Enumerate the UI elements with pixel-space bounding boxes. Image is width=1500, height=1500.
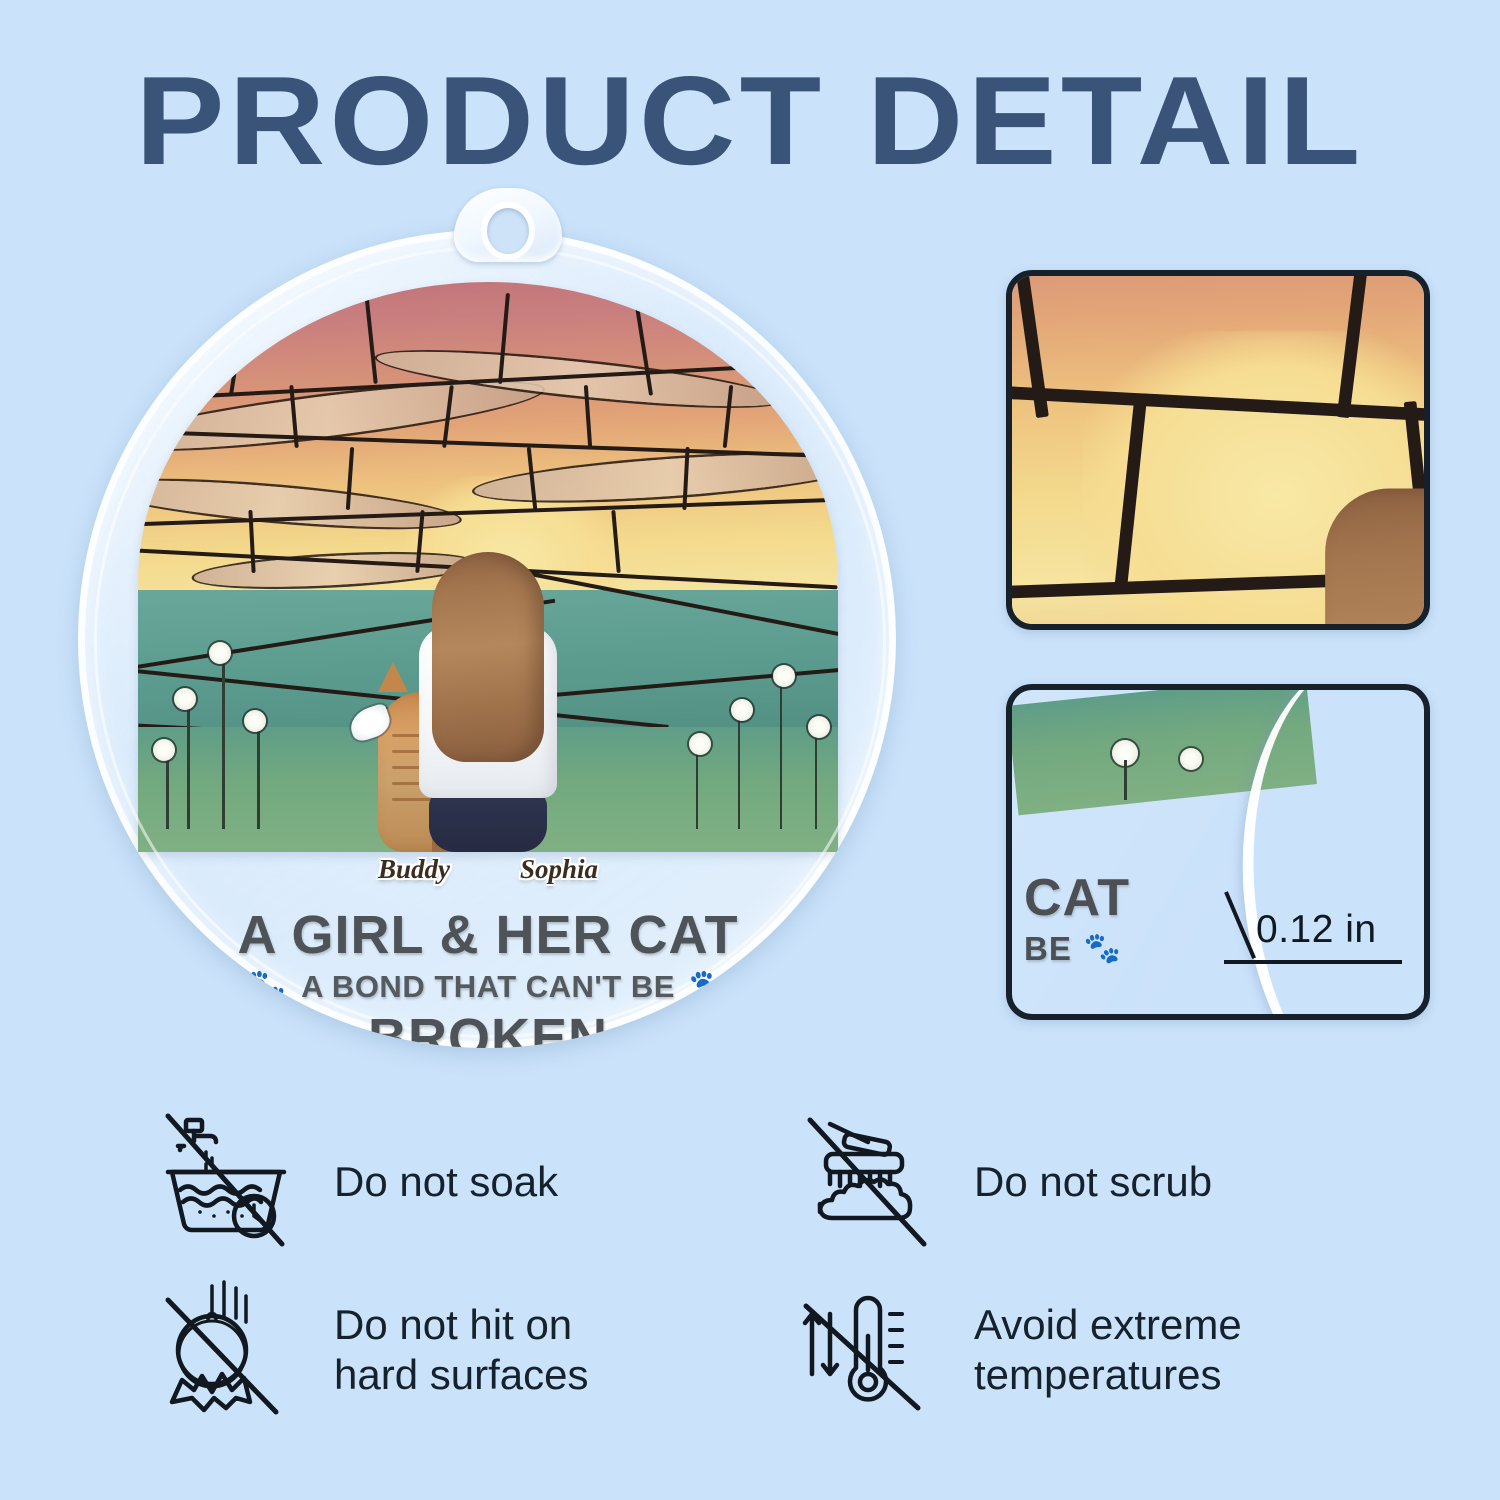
flower-stem [187, 704, 190, 829]
mini-text-cat: CAT [1024, 872, 1130, 924]
cat-ear-icon [378, 662, 408, 692]
product-detail-page: PRODUCT DETAIL [0, 0, 1500, 1500]
paw-print-icon: 🐾 [244, 970, 287, 1004]
no-soak-icon [150, 1112, 300, 1252]
flower-stem [166, 755, 169, 829]
care-label-no-scrub: Do not scrub [974, 1157, 1212, 1207]
callout-edge-thickness: CAT BE 🐾 0.12 in [1006, 684, 1430, 1020]
product-quote: A GIRL & HER CAT 🐾 A BOND THAT CAN'T BE … [138, 908, 838, 1048]
pet-names-row: Buddy Sophia [138, 854, 838, 885]
quote-line-1: A GIRL & HER CAT [138, 908, 838, 963]
quote-line-2-row: 🐾 A BOND THAT CAN'T BE 🐾 [138, 969, 838, 1005]
girl-hair [432, 552, 544, 762]
paw-print-icon: 🐾 [689, 970, 732, 1004]
care-item-no-scrub: Do not scrub [790, 1098, 1420, 1266]
girl-figure [413, 552, 563, 852]
flower-stem [738, 715, 741, 829]
page-title: PRODUCT DETAIL [0, 58, 1500, 184]
care-item-no-impact: Do not hit on hard surfaces [150, 1266, 790, 1434]
flower-stem [222, 658, 225, 829]
no-scrub-icon [790, 1112, 940, 1252]
daisy-flower-icon [1180, 748, 1202, 770]
closeup-girl-hair [1325, 488, 1430, 630]
flower-stem [1124, 760, 1127, 800]
daisy-flower-icon [808, 716, 830, 738]
quote-line-2: A BOND THAT CAN'T BE [301, 969, 675, 1005]
daisy-flower-icon [689, 733, 711, 755]
closeup-artwork [1006, 270, 1430, 630]
daisy-flower-icon [731, 699, 753, 721]
care-item-no-extreme-temp: Avoid extreme temperatures [790, 1266, 1420, 1434]
flower-stem [780, 681, 783, 829]
daisy-flower-icon [174, 688, 196, 710]
hang-hole-icon [487, 208, 529, 254]
care-label-no-soak: Do not soak [334, 1157, 558, 1207]
paw-print-icon: 🐾 [1084, 934, 1122, 964]
care-item-no-soak: Do not soak [150, 1098, 790, 1266]
acrylic-disc: Buddy Sophia A GIRL & HER CAT 🐾 A BOND T… [78, 230, 896, 1048]
care-instructions-grid: Do not soak Do not scrub [150, 1098, 1420, 1458]
flower-stem [257, 727, 260, 830]
girl-pants [429, 790, 547, 852]
thickness-mini-quote: CAT BE 🐾 [1024, 872, 1130, 968]
mini-text-be-row: BE 🐾 [1024, 930, 1130, 968]
no-impact-icon [150, 1280, 300, 1420]
measurement-baseline [1224, 960, 1402, 964]
no-extreme-temp-icon [790, 1280, 940, 1420]
thickness-measurement: 0.12 in [1256, 908, 1377, 952]
name-buddy: Buddy [378, 854, 450, 885]
callout-stained-glass-closeup [1006, 270, 1430, 630]
care-label-no-impact: Do not hit on hard surfaces [334, 1300, 588, 1399]
stained-glass-artwork [138, 282, 838, 852]
flower-stem [815, 732, 818, 829]
name-sophia: Sophia [520, 854, 598, 885]
flower-stem [696, 749, 699, 829]
care-label-no-extreme-temp: Avoid extreme temperatures [974, 1300, 1242, 1399]
daisy-flower-icon [773, 665, 795, 687]
mini-text-be: BE [1024, 930, 1072, 968]
product-ornament: Buddy Sophia A GIRL & HER CAT 🐾 A BOND T… [78, 188, 938, 1048]
quote-line-3: BROKEN [138, 1007, 838, 1048]
